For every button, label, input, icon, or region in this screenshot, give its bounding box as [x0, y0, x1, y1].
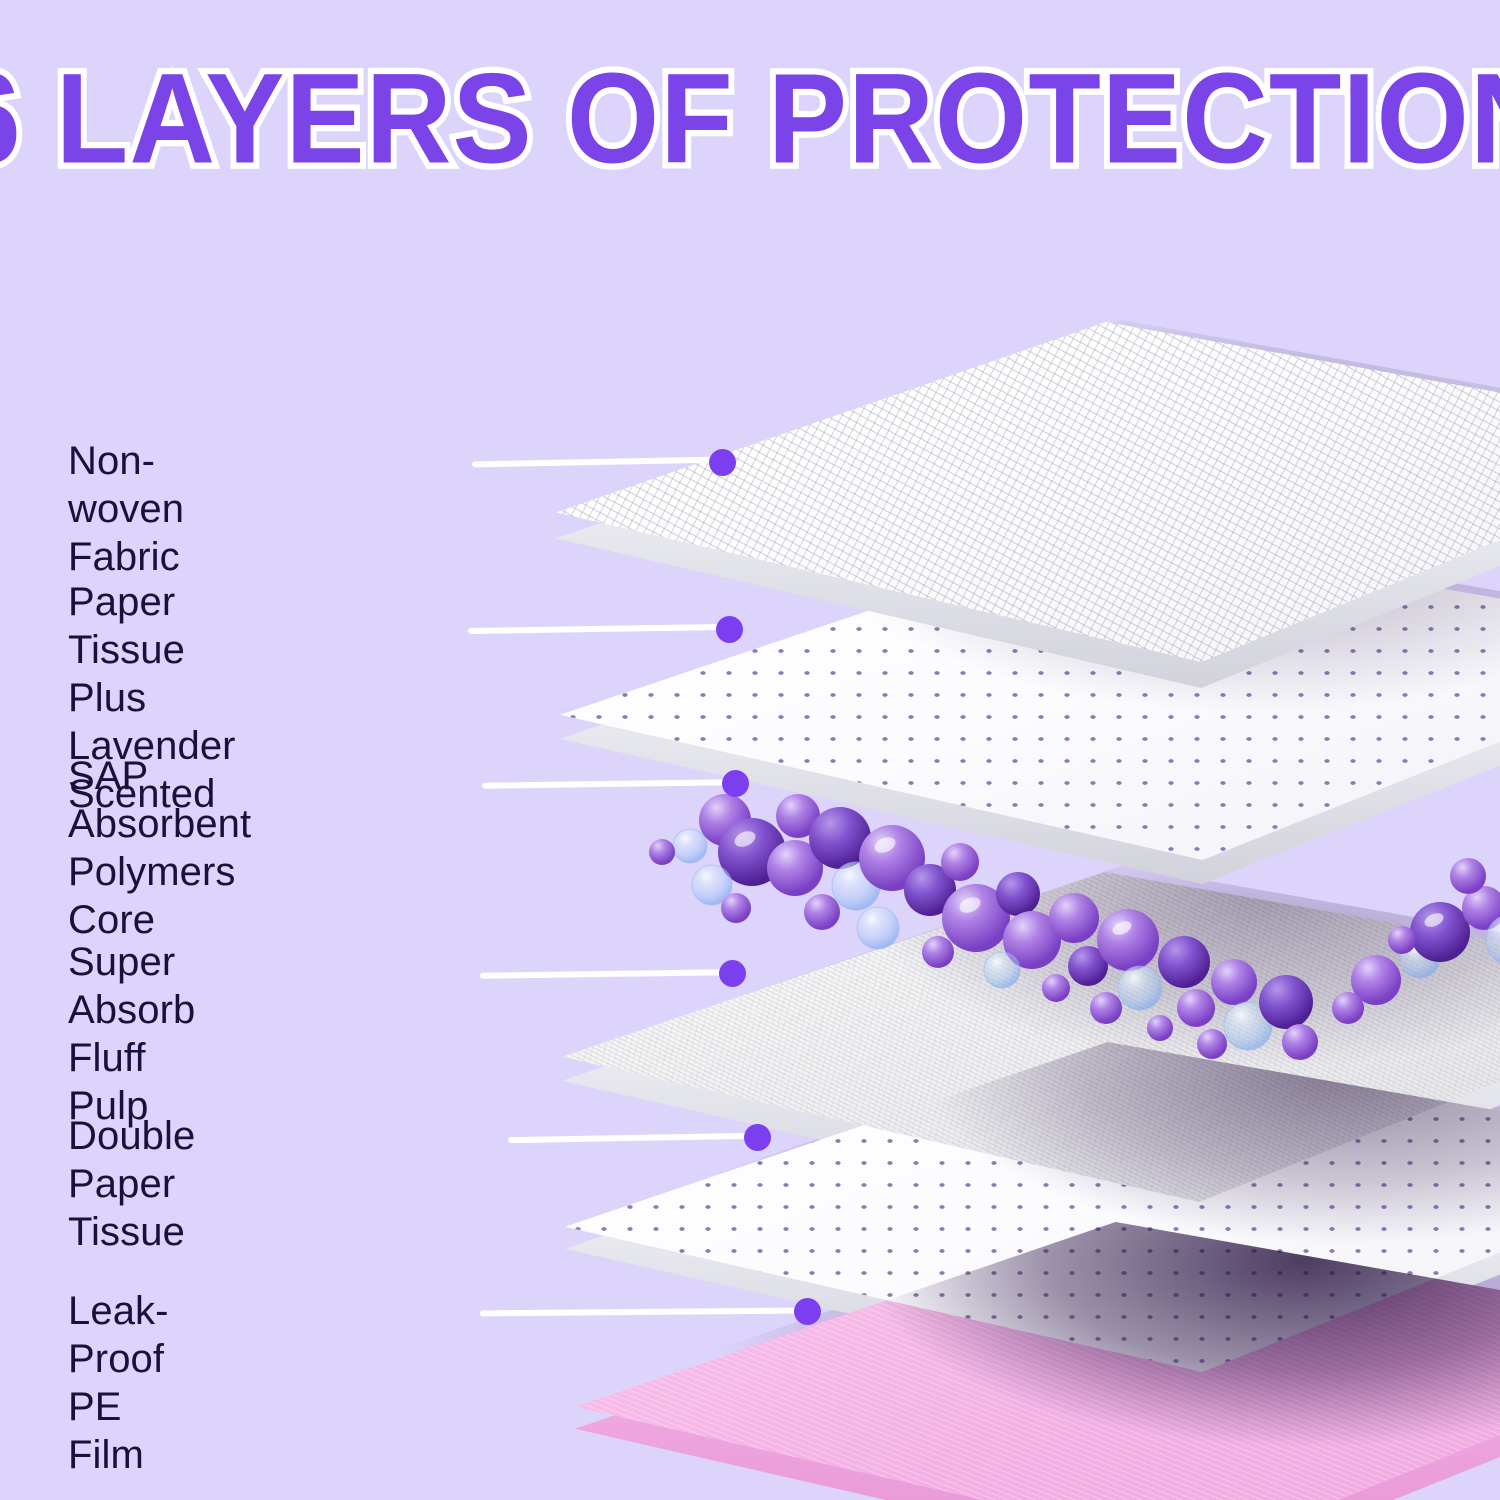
infographic-canvas: 6 LAYERS OF PROTECTION	[0, 0, 1500, 1500]
callout-dot	[709, 449, 736, 476]
callout-label: SAP Absorbent Polymers Core	[68, 752, 251, 944]
callout-dot	[744, 1124, 771, 1151]
callout-label: Super Absorb Fluff Pulp	[68, 938, 195, 1130]
callout-label: Non-woven Fabric	[68, 437, 184, 581]
callout-dot	[722, 770, 749, 797]
callout-dot	[716, 616, 743, 643]
layer-non-woven-fabric	[556, 322, 1500, 662]
callout-dot	[719, 960, 746, 987]
callout-dot	[794, 1298, 821, 1325]
callout-label: Leak-Proof PE Film	[68, 1287, 169, 1479]
callout-label: Double Paper Tissue	[68, 1112, 195, 1256]
